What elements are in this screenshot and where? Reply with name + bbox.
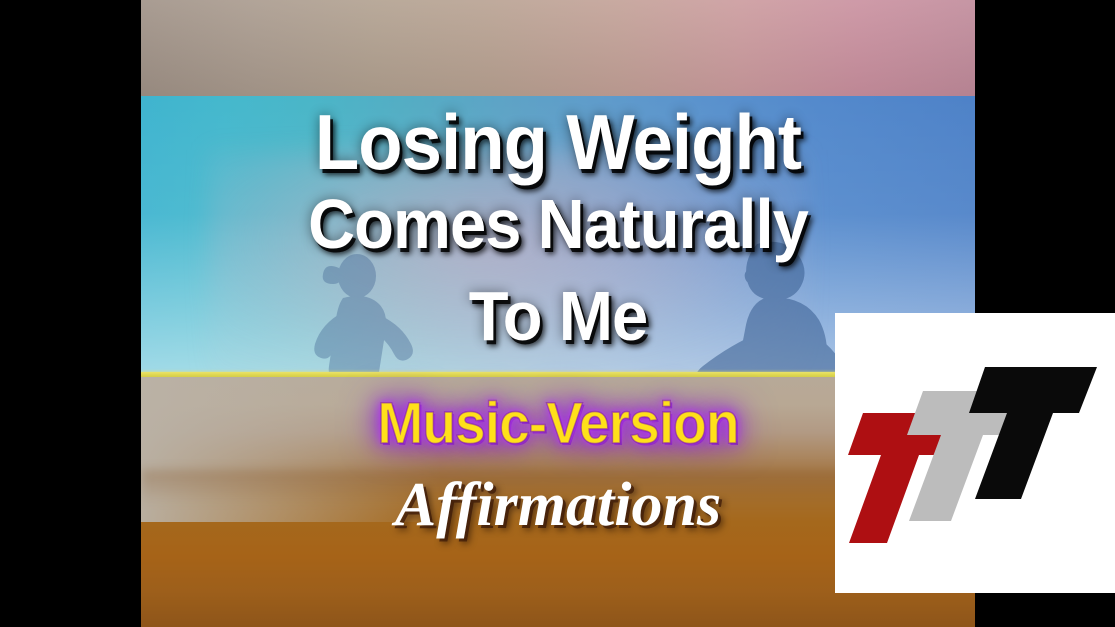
letterbox-left [0, 0, 141, 627]
ttt-logo[interactable] [835, 313, 1115, 593]
title-line-2: Comes Naturally [170, 192, 946, 258]
thumbnail-canvas: Losing Weight Comes Naturally To Me Musi… [0, 0, 1115, 627]
sky-haze-band [141, 0, 975, 97]
title-line-3: To Me [170, 284, 946, 350]
title-line-1: Losing Weight [170, 106, 946, 179]
